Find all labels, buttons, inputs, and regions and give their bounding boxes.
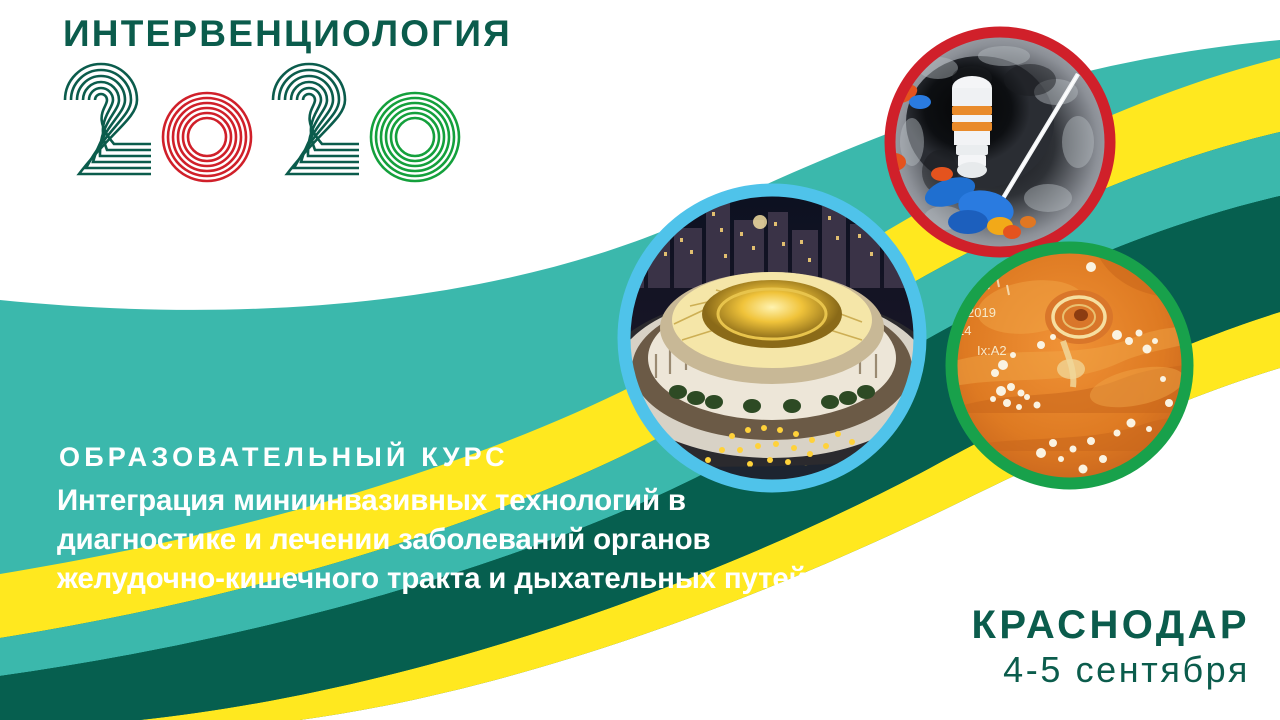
venue-city: КРАСНОДАР bbox=[972, 602, 1251, 648]
event-logo: ИНТЕРВЕНЦИОЛОГИЯ bbox=[55, 10, 475, 185]
course-kicker: ОБРАЗОВАТЕЛЬНЫЙ КУРС bbox=[59, 440, 877, 474]
venue-date: 4-5 сентября bbox=[972, 648, 1251, 692]
logo-digit-2-second bbox=[273, 64, 359, 174]
overlay-text-index: Ix:A2 bbox=[977, 343, 1007, 358]
course-title-line-1: Интеграция миниинвазивных технологий в bbox=[57, 481, 867, 520]
eus-photo-content bbox=[880, 22, 1120, 262]
course-title-line-3: желудочно-кишечного тракта и дыхательных… bbox=[57, 559, 867, 598]
endoscopy-photo-content: 2019 14 Ix:A2 bbox=[941, 237, 1198, 494]
logo-year-2020 bbox=[55, 56, 475, 184]
eus-stent-device bbox=[952, 76, 992, 178]
endoscopy-photo: 2019 14 Ix:A2 bbox=[941, 237, 1198, 494]
conference-poster: ИНТЕРВЕНЦИОЛОГИЯ bbox=[0, 0, 1280, 720]
venue-block: КРАСНОДАР 4-5 сентября bbox=[972, 602, 1251, 692]
course-title-line-2: диагностике и лечении заболеваний органо… bbox=[57, 520, 867, 559]
eus-doppler-photo bbox=[880, 22, 1120, 262]
street-light-glow bbox=[753, 215, 767, 229]
logo-digit-0-green bbox=[371, 93, 459, 181]
course-title: Интеграция миниинвазивных технологий в д… bbox=[57, 481, 867, 598]
logo-wordmark: ИНТЕРВЕНЦИОЛОГИЯ bbox=[63, 12, 473, 56]
logo-digit-0-red bbox=[163, 93, 251, 181]
course-text-block: ОБРАЗОВАТЕЛЬНЫЙ КУРС Интеграция миниинва… bbox=[57, 440, 877, 598]
logo-digit-2-first bbox=[65, 64, 151, 174]
